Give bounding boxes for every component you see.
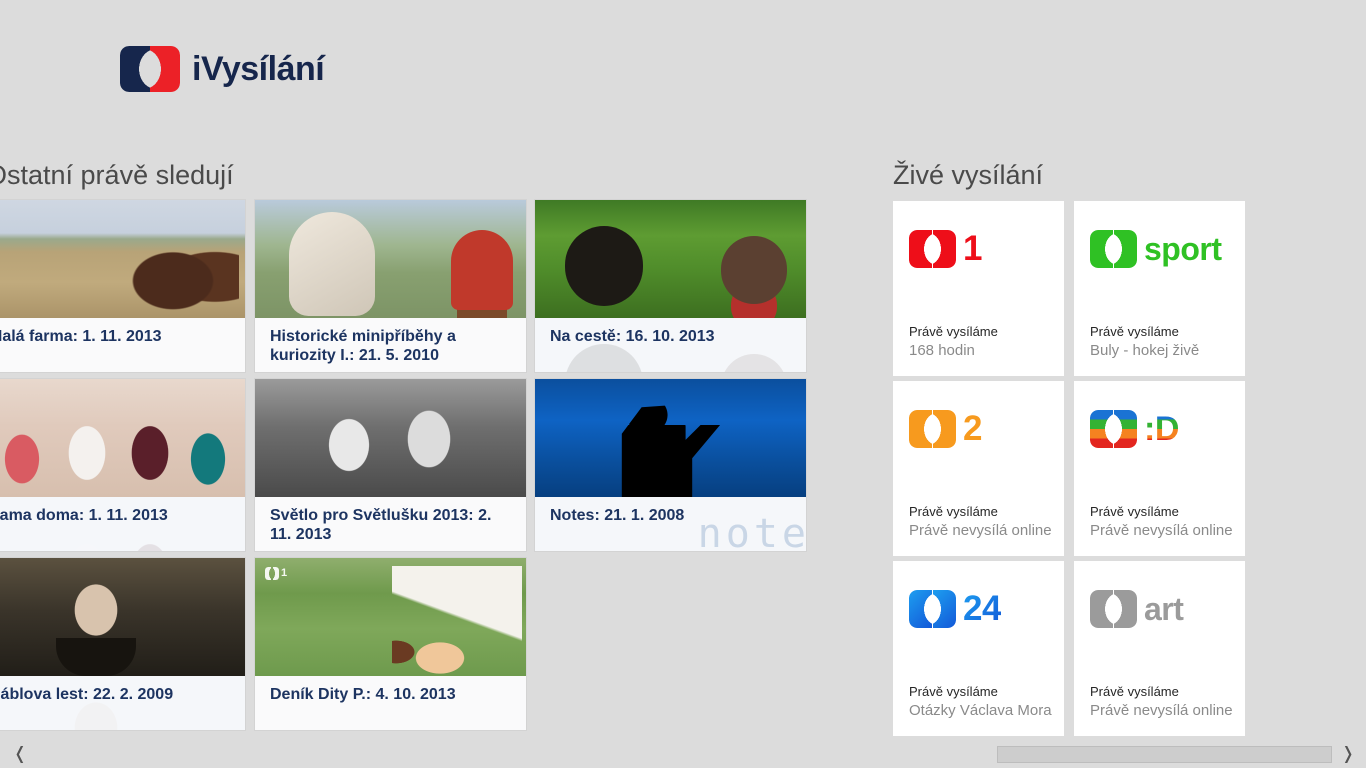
video-title: Sama doma: 1. 11. 2013 [0,497,245,551]
live-channel-tile-ct24[interactable]: 24 Právě vysíláme Otázky Václava Mora [893,561,1064,736]
video-thumbnail [535,379,806,497]
video-title: Na cestě: 16. 10. 2013 [535,318,806,372]
video-title: Deník Dity P.: 4. 10. 2013 [255,676,526,730]
channel-meta: Právě vysíláme Právě nevysílá online [909,504,1058,542]
live-channel-tile-ct1[interactable]: 1 Právě vysíláme 168 hodin [893,201,1064,376]
live-channel-tile-ct-d[interactable]: :D Právě vysíláme Právě nevysílá online [1074,381,1245,556]
video-thumbnail [255,200,526,318]
horizontal-scrollbar[interactable]: ❬ ❭ [0,740,1366,768]
app-header: iVysílání [0,0,1366,130]
video-title: Světlo pro Světlušku 2013: 2. 11. 2013 [255,497,526,551]
video-thumbnail [0,379,245,497]
now-playing-label: Právě vysíláme [909,684,1058,700]
channel-logo-ct-d-icon: :D [1090,401,1179,457]
channel-logo-ct1-icon: 1 [909,221,982,277]
video-thumbnail [255,379,526,497]
czech-tv-logo-icon [120,46,180,92]
channel-logo-ct24-icon: 24 [909,581,1001,637]
now-playing-label: Právě vysíláme [1090,684,1239,700]
channel-logo-text: 24 [963,590,1001,628]
video-tile[interactable]: Sama doma: 1. 11. 2013 [0,379,245,551]
scrollbar-thumb[interactable] [997,746,1332,763]
video-title: Historické minipříběhy a kuriozity I.: 2… [255,318,526,372]
video-thumbnail [535,200,806,318]
now-playing-label: Právě vysíláme [909,324,1058,340]
video-tile[interactable]: Historické minipříběhy a kuriozity I.: 2… [255,200,526,372]
video-thumbnail [0,200,245,318]
app-title: iVysílání [192,52,324,86]
video-tile[interactable]: Na cestě: 16. 10. 2013 [535,200,806,372]
now-playing-program: 168 hodin [909,340,1058,362]
now-playing-label: Právě vysíláme [909,504,1058,520]
app-logo[interactable]: iVysílání [120,46,324,92]
watching-grid: Malá farma: 1. 11. 2013 Historické minip… [0,200,834,740]
channel-logo-text: :D [1144,410,1179,448]
watching-section-heading: Ostatní právě sledují [0,162,234,189]
now-playing-program: Právě nevysílá online [1090,700,1239,722]
video-tile[interactable]: 1 Deník Dity P.: 4. 10. 2013 [255,558,526,730]
channel-meta: Právě vysíláme Právě nevysílá online [1090,504,1239,542]
channel-logo-text: 1 [963,230,982,268]
now-playing-program: Buly - hokej živě [1090,340,1239,362]
logo-right-bracket [150,46,180,92]
scroll-right-arrow-icon[interactable]: ❭ [1334,740,1362,768]
video-tile[interactable]: Notes: 21. 1. 2008 note [535,379,806,551]
channel-meta: Právě vysíláme Otázky Václava Mora [909,684,1058,722]
live-channel-tile-ct-art[interactable]: art Právě vysíláme Právě nevysílá online [1074,561,1245,736]
live-channels-grid: 1 Právě vysíláme 168 hodin sport Právě v… [893,201,1253,741]
ct-bracket-icon [1090,230,1137,268]
live-section-heading: Živé vysílání [893,162,1043,189]
channel-logo-text: 2 [963,410,982,448]
channel-logo-ct-sport-icon: sport [1090,221,1222,277]
video-tile[interactable]: Ďáblova lest: 22. 2. 2009 [0,558,245,730]
video-title: Malá farma: 1. 11. 2013 [0,318,245,372]
scrollbar-track[interactable] [28,746,1336,763]
video-tile[interactable]: Světlo pro Světlušku 2013: 2. 11. 2013 [255,379,526,551]
channel-meta: Právě vysíláme Buly - hokej živě [1090,324,1239,362]
live-channel-tile-ct2[interactable]: 2 Právě vysíláme Právě nevysílá online [893,381,1064,556]
channel-logo-ct2-icon: 2 [909,401,982,457]
live-channel-tile-ct-sport[interactable]: sport Právě vysíláme Buly - hokej živě [1074,201,1245,376]
now-playing-label: Právě vysíláme [1090,504,1239,520]
ct-bracket-icon [909,410,956,448]
app-root: iVysílání Ostatní právě sledují Malá far… [0,0,1366,768]
thumbnail-watermark: note [698,511,806,551]
ct-bracket-icon [1090,410,1137,448]
channel-logo-text: sport [1144,230,1222,268]
video-tile[interactable]: Malá farma: 1. 11. 2013 [0,200,245,372]
channel-logo-text: art [1144,590,1183,628]
video-thumbnail [0,558,245,676]
channel-meta: Právě vysíláme 168 hodin [909,324,1058,362]
now-playing-program: Právě nevysílá online [909,520,1058,542]
now-playing-label: Právě vysíláme [1090,324,1239,340]
video-thumbnail: 1 [255,558,526,676]
channel-watermark-icon: 1 [265,566,291,580]
channel-meta: Právě vysíláme Právě nevysílá online [1090,684,1239,722]
logo-left-bracket [120,46,150,92]
now-playing-program: Právě nevysílá online [1090,520,1239,542]
now-playing-program: Otázky Václava Mora [909,700,1058,722]
ct-bracket-icon [909,230,956,268]
video-title: Ďáblova lest: 22. 2. 2009 [0,676,245,730]
channel-logo-ct-art-icon: art [1090,581,1183,637]
ct-bracket-icon [1090,590,1137,628]
channel-watermark-label: 1 [281,567,287,580]
ct-bracket-icon [909,590,956,628]
